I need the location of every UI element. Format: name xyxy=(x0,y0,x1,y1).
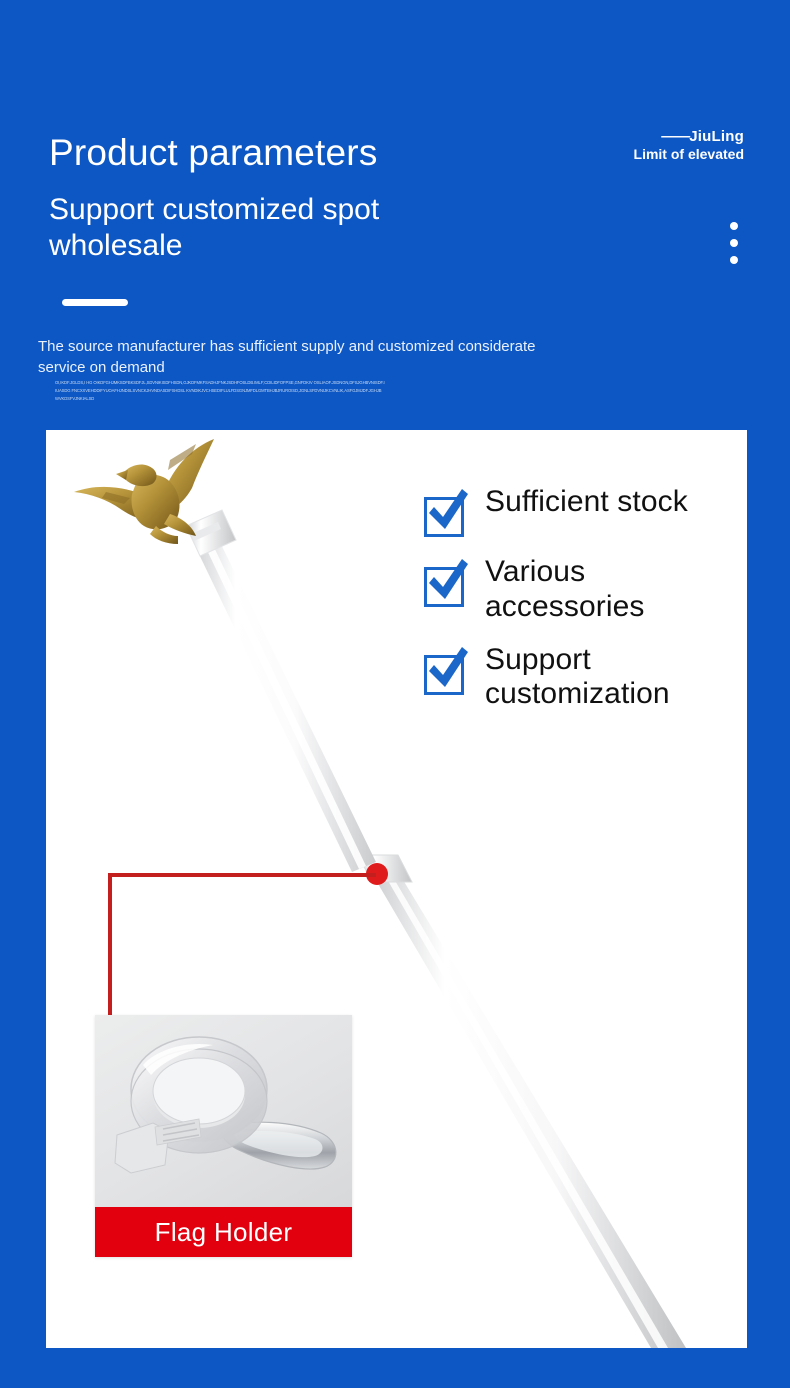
brand-name: JiuLing xyxy=(689,128,744,145)
brand-tagline: Limit of elevated xyxy=(634,146,744,163)
callout-line-vertical xyxy=(108,873,112,1016)
pole-upper-segment xyxy=(196,538,376,872)
kebab-dot xyxy=(730,239,738,247)
callout-line-horizontal xyxy=(108,873,376,877)
feature-label: Sufficient stock xyxy=(485,485,688,520)
lead-paragraph: The source manufacturer has sufficient s… xyxy=(38,337,578,378)
list-item: Support customization xyxy=(421,643,731,713)
check-mark-glyph xyxy=(421,489,469,537)
brand-name-row: ——JiuLing xyxy=(634,128,744,146)
feature-checklist: Sufficient stock Various accessories xyxy=(421,485,731,730)
ring-clip-illustration xyxy=(95,1015,352,1207)
product-parameters-page: Product parameters Support customized sp… xyxy=(0,0,790,1388)
feature-label: Various accessories xyxy=(485,555,731,625)
flag-holder-inset-card[interactable]: Flag Holder xyxy=(95,1015,352,1257)
more-options-kebab-icon[interactable] xyxy=(730,222,738,264)
flag-holder-caption: Flag Holder xyxy=(95,1207,352,1257)
kebab-dot xyxy=(730,256,738,264)
checkbox-checked-icon xyxy=(421,647,469,695)
pole-lower-segment xyxy=(364,860,686,1348)
checkbox-checked-icon xyxy=(421,559,469,607)
check-mark-glyph xyxy=(421,647,469,695)
flag-holder-photo xyxy=(95,1015,352,1207)
checkbox-checked-icon xyxy=(421,489,469,537)
feature-label: Support customization xyxy=(485,643,731,713)
page-title: Product parameters xyxy=(49,133,378,174)
micro-filler-text: OI,IKDF.JGLDS,I HG OIKDFGHJMKSDFBKSDFJL,… xyxy=(55,379,385,402)
brand-block: ——JiuLing Limit of elevated xyxy=(634,128,744,163)
kebab-dot xyxy=(730,222,738,230)
accent-divider-bar xyxy=(62,299,128,306)
page-subtitle: Support customized spot wholesale xyxy=(49,192,519,264)
check-mark-glyph xyxy=(421,559,469,607)
list-item: Various accessories xyxy=(421,555,731,625)
list-item: Sufficient stock xyxy=(421,485,731,537)
brand-dash: —— xyxy=(661,128,689,145)
